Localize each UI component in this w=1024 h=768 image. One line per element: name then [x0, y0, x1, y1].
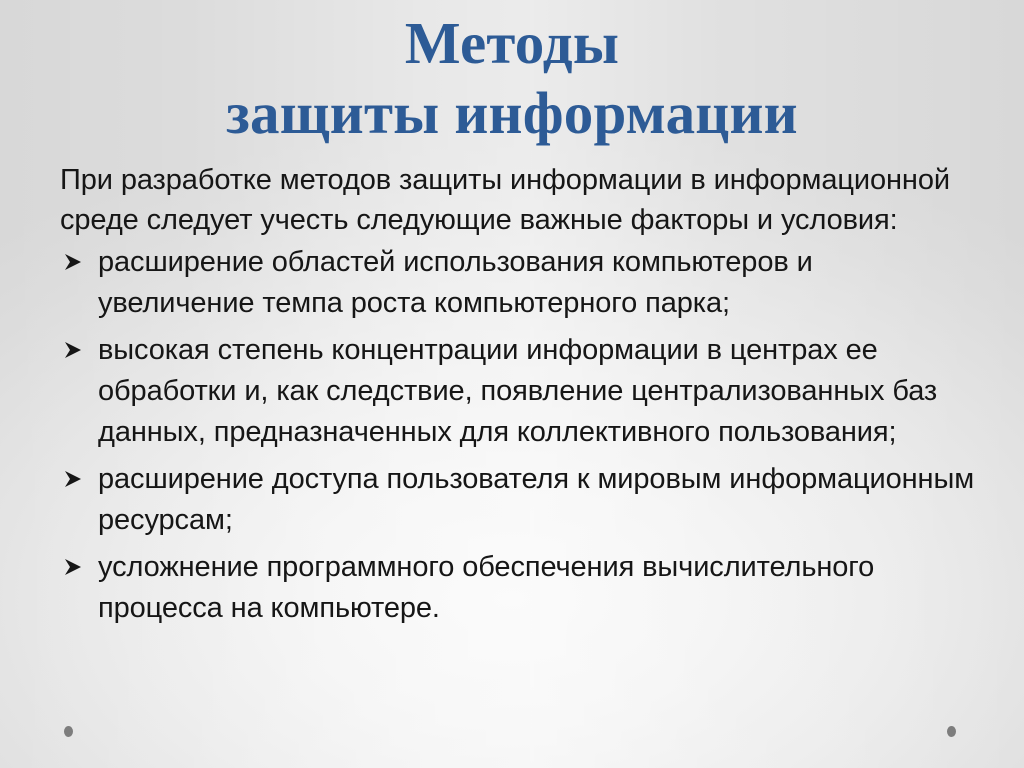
list-item: высокая степень концентрации информации … [60, 330, 976, 453]
list-item-text: высокая степень концентрации информации … [98, 334, 937, 448]
slide-title-line-1: Методы [0, 8, 1024, 78]
list-item: усложнение программного обеспечения вычи… [60, 547, 976, 629]
arrowhead-bullet-icon [62, 556, 84, 578]
arrowhead-bullet-icon [62, 251, 84, 273]
list-item-text: усложнение программного обеспечения вычи… [98, 551, 874, 624]
intro-paragraph: При разработке методов защиты информации… [60, 160, 976, 240]
presentation-slide: Методы защиты информации При разработке … [0, 0, 1024, 768]
list-item: расширение доступа пользователя к мировы… [60, 459, 976, 541]
list-item: расширение областей использования компью… [60, 242, 976, 324]
list-item-text: расширение областей использования компью… [98, 246, 813, 319]
slide-title: Методы защиты информации [0, 8, 1024, 148]
decorative-dot-left [64, 726, 73, 737]
slide-body: При разработке методов защиты информации… [60, 160, 976, 629]
factors-list: расширение областей использования компью… [60, 242, 976, 629]
arrowhead-bullet-icon [62, 468, 84, 490]
slide-title-line-2: защиты информации [0, 78, 1024, 148]
arrowhead-bullet-icon [62, 339, 84, 361]
decorative-dot-right [947, 726, 956, 737]
slide-content: Методы защиты информации При разработке … [0, 0, 1024, 768]
list-item-text: расширение доступа пользователя к мировы… [98, 463, 974, 536]
